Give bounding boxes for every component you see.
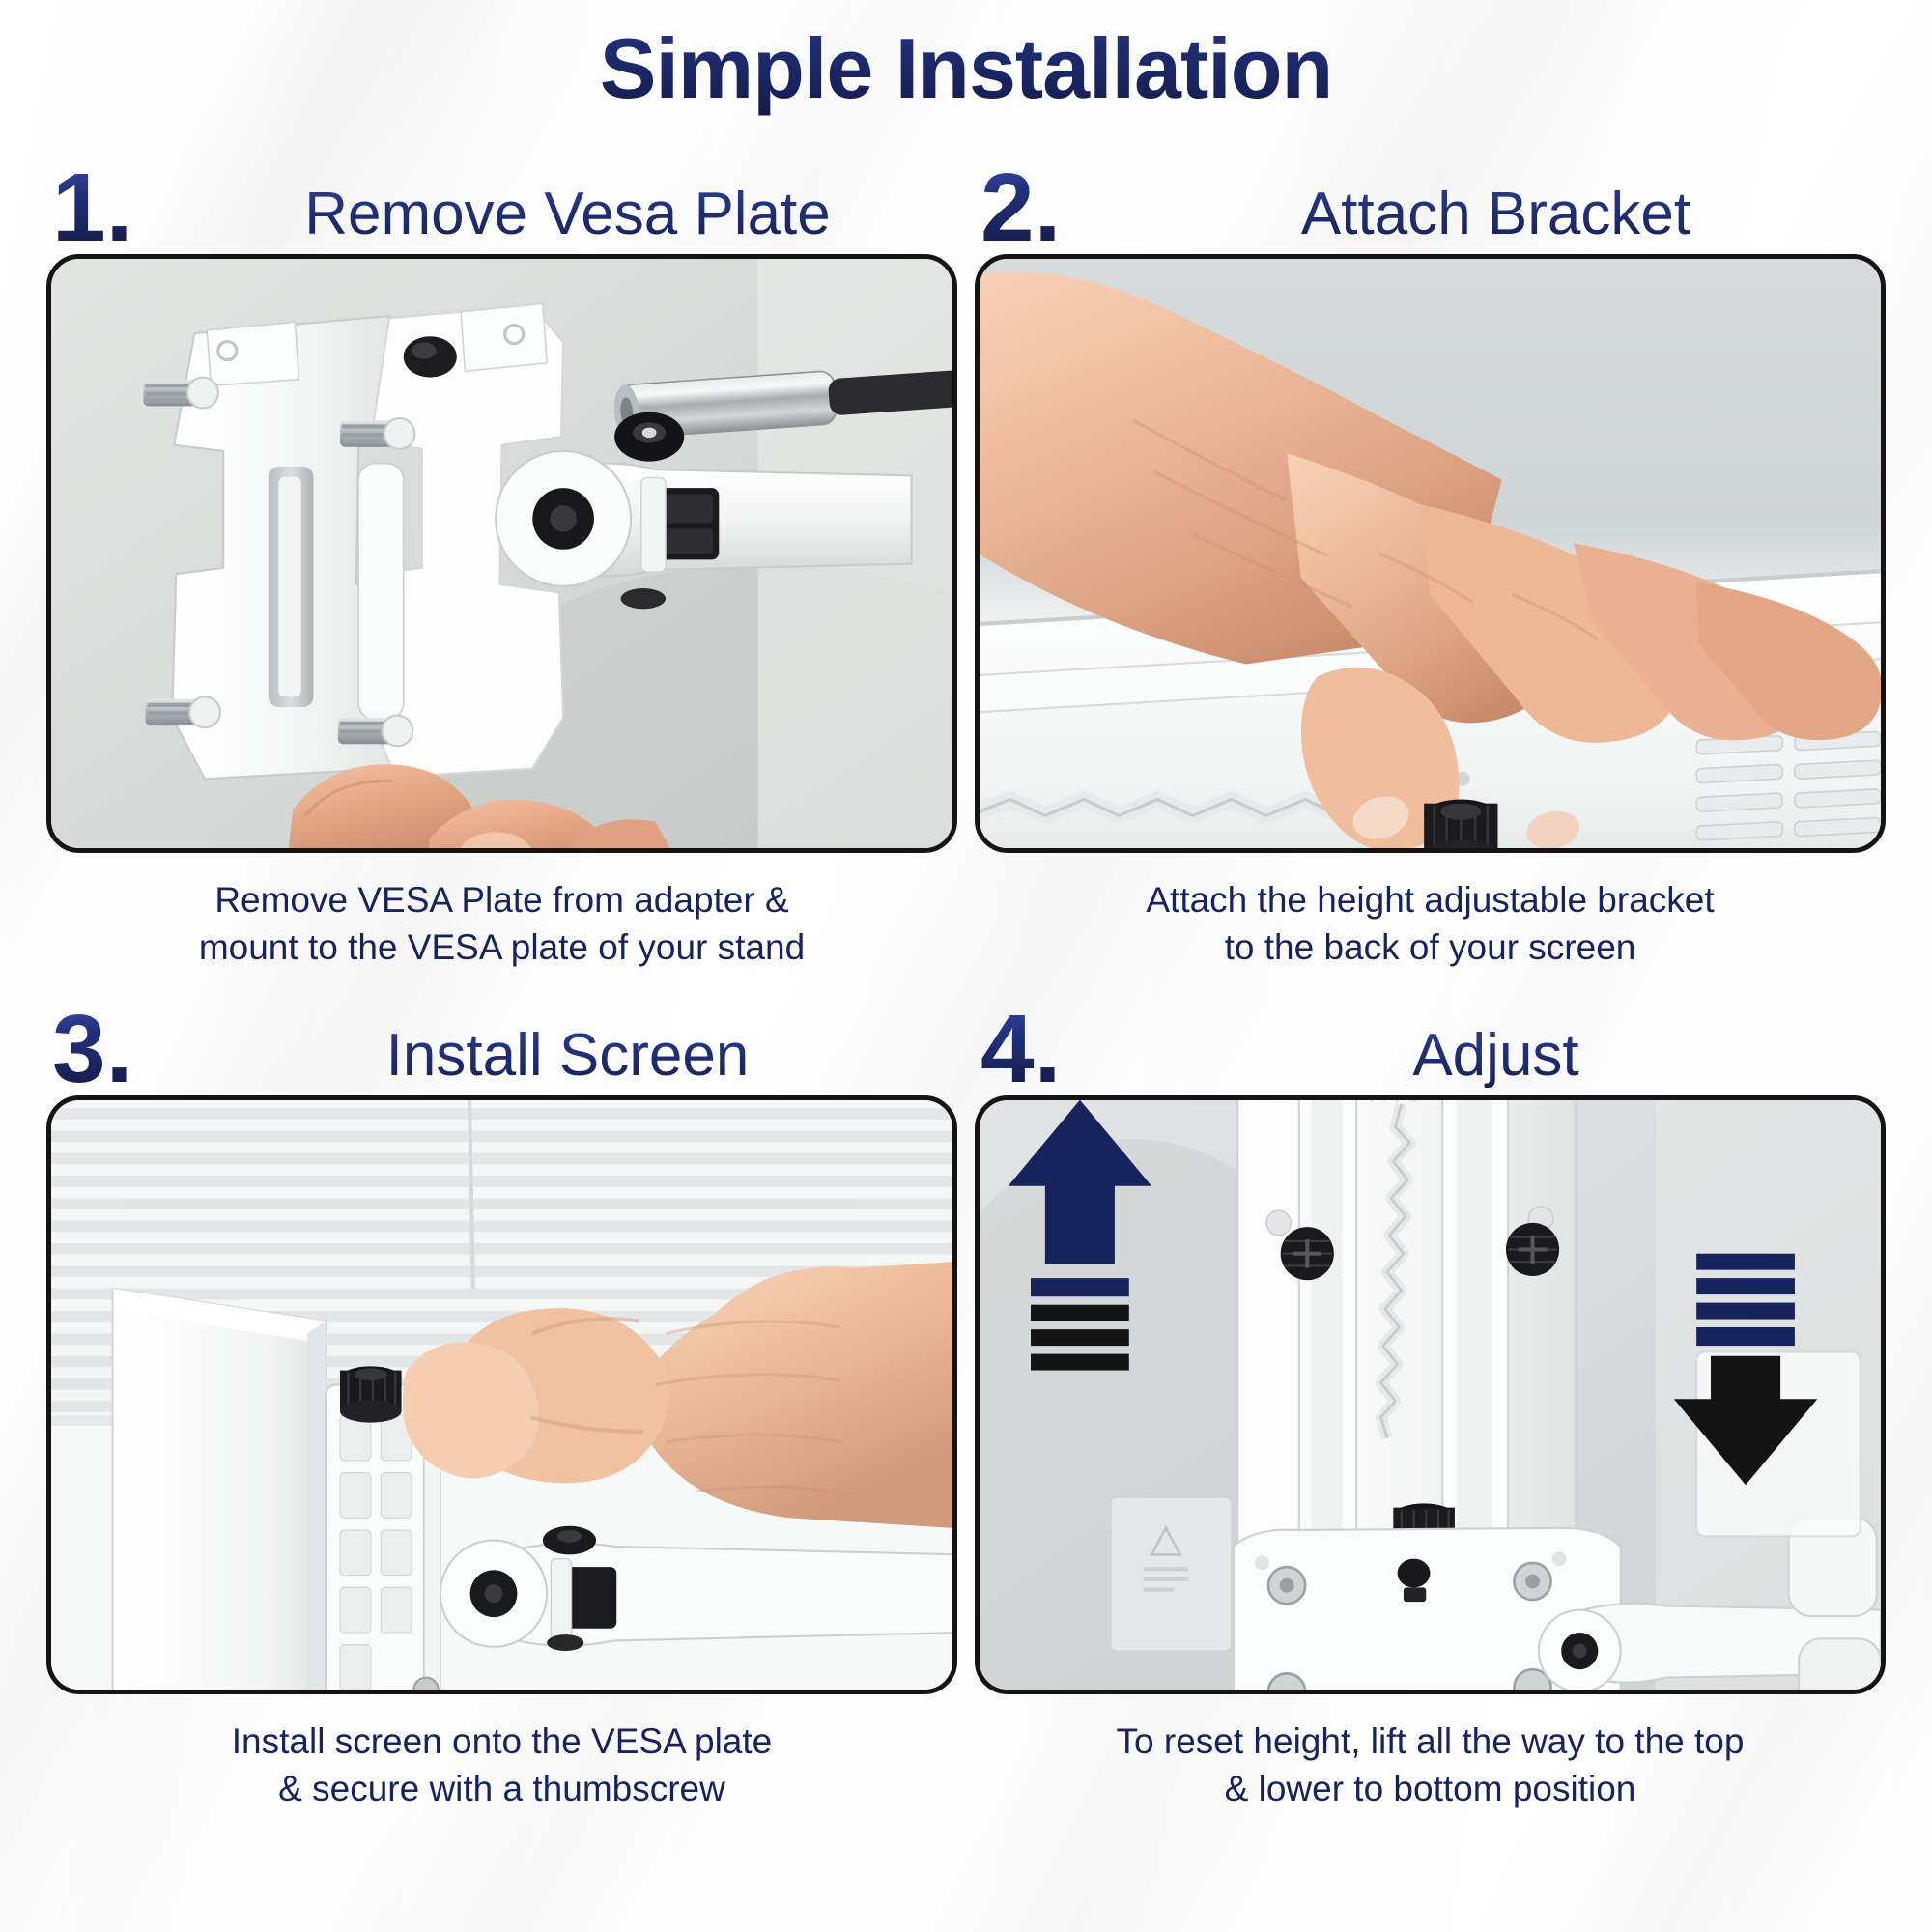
step-1: 1. Remove Vesa Plate bbox=[46, 140, 957, 971]
photo-install-screen bbox=[46, 1095, 957, 1694]
step-4-caption-line-1: To reset height, lift all the way to the… bbox=[975, 1718, 1886, 1765]
step-1-caption: Remove VESA Plate from adapter & mount t… bbox=[46, 853, 957, 971]
step-3-header: 3. Install Screen bbox=[46, 981, 957, 1095]
step-4-caption: To reset height, lift all the way to the… bbox=[975, 1694, 1886, 1812]
step-1-header: 1. Remove Vesa Plate bbox=[46, 140, 957, 254]
step-3-caption-line-2: & secure with a thumbscrew bbox=[46, 1765, 957, 1812]
thumbscrew-knob bbox=[1424, 800, 1497, 849]
step-2-number: 2. bbox=[980, 162, 1145, 254]
step-4-title: Adjust bbox=[1145, 1021, 1886, 1095]
steps-grid: 1. Remove Vesa Plate bbox=[0, 117, 1932, 1832]
step-3-caption: Install screen onto the VESA plate & sec… bbox=[46, 1694, 957, 1812]
step-4-header: 4. Adjust bbox=[975, 981, 1886, 1095]
photo-attach-bracket bbox=[975, 254, 1886, 853]
thumbscrew-knob-3 bbox=[340, 1366, 402, 1422]
step-4-caption-line-2: & lower to bottom position bbox=[975, 1765, 1886, 1812]
photo-remove-vesa-plate bbox=[46, 254, 957, 853]
photo-attach-bracket-illustration bbox=[980, 259, 1881, 848]
rail-thumbscrew-right bbox=[1506, 1222, 1559, 1275]
step-4-number: 4. bbox=[980, 1004, 1145, 1095]
step-2-caption-line-1: Attach the height adjustable bracket bbox=[975, 876, 1886, 923]
step-1-caption-line-2: mount to the VESA plate of your stand bbox=[46, 923, 957, 971]
rail-thumbscrew-left bbox=[1281, 1227, 1334, 1280]
step-1-caption-line-1: Remove VESA Plate from adapter & bbox=[46, 876, 957, 923]
step-2-caption-line-2: to the back of your screen bbox=[975, 923, 1886, 971]
photo-remove-vesa-plate-illustration bbox=[51, 259, 952, 848]
infographic-page: Simple Installation 1. Remove Vesa Plate bbox=[0, 0, 1932, 1932]
photo-install-screen-illustration bbox=[51, 1100, 952, 1690]
step-1-number: 1. bbox=[52, 162, 216, 254]
step-2-caption: Attach the height adjustable bracket to … bbox=[975, 853, 1886, 971]
step-3-title: Install Screen bbox=[216, 1021, 957, 1095]
step-1-title: Remove Vesa Plate bbox=[216, 180, 957, 254]
step-3: 3. Install Screen bbox=[46, 981, 957, 1812]
photo-adjust: VIVO bbox=[975, 1095, 1886, 1694]
step-4: 4. Adjust bbox=[975, 981, 1886, 1812]
photo-adjust-illustration: VIVO bbox=[980, 1100, 1881, 1690]
step-2: 2. Attach Bracket bbox=[975, 140, 1886, 971]
step-2-title: Attach Bracket bbox=[1145, 180, 1886, 254]
step-3-number: 3. bbox=[52, 1004, 216, 1095]
step-3-caption-line-1: Install screen onto the VESA plate bbox=[46, 1718, 957, 1765]
page-title: Simple Installation bbox=[0, 0, 1932, 117]
step-2-header: 2. Attach Bracket bbox=[975, 140, 1886, 254]
